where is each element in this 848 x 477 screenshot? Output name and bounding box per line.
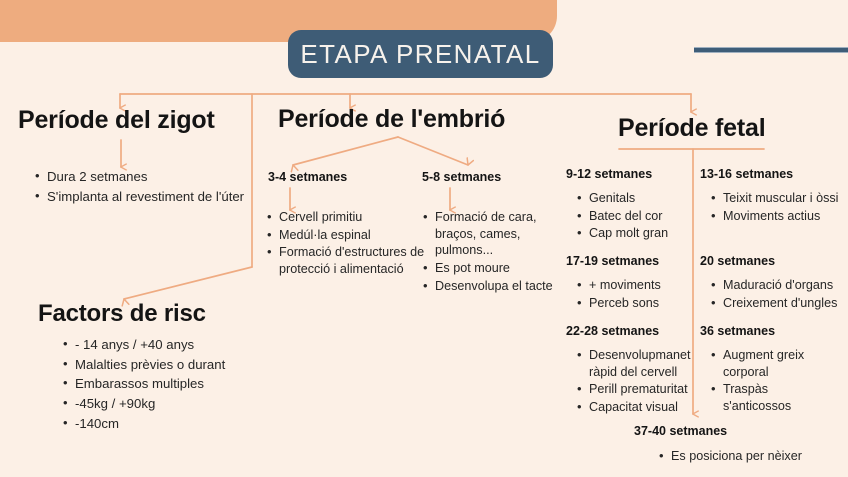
week-label-13-16: 13-16 setmanes bbox=[700, 167, 793, 181]
arrow-to-factors bbox=[124, 267, 252, 299]
week-label-37-40: 37-40 setmanes bbox=[634, 424, 727, 438]
list-item: Malalties prèvies o durant bbox=[75, 356, 305, 375]
list-item: Maduració d'organs bbox=[723, 277, 848, 294]
list-item: S'implanta al revestiment de l'úter bbox=[47, 188, 267, 207]
list-item: Perceb sons bbox=[589, 295, 707, 312]
list-item: Creixement d'ungles bbox=[723, 295, 848, 312]
list-item: Augment greix corporal bbox=[723, 347, 819, 380]
list-item: -140cm bbox=[75, 415, 305, 434]
list-item: Moviments actius bbox=[723, 208, 848, 225]
section-title-embrio: Període de l'embrió bbox=[278, 105, 505, 134]
blue-rule-decoration bbox=[694, 47, 848, 53]
list-item: Es pot moure bbox=[435, 260, 575, 277]
week-label-36: 36 setmanes bbox=[700, 324, 775, 338]
factors-bullet-list: - 14 anys / +40 anys Malalties prèvies o… bbox=[58, 336, 305, 435]
week-label-3-4: 3-4 setmanes bbox=[268, 170, 347, 184]
week-label-22-28: 22-28 setmanes bbox=[566, 324, 659, 338]
list-item: Desenvolupmanet ràpid del cervell bbox=[589, 347, 699, 380]
embrio-3-4-bullet-list: Cervell primitiu Medúl·la espinal Formac… bbox=[262, 209, 427, 279]
list-item: Desenvolupa el tacte bbox=[435, 278, 575, 295]
list-item: Batec del cor bbox=[589, 208, 707, 225]
page-title-badge: ETAPA PRENATAL bbox=[288, 30, 553, 78]
embrio-5-8-bullet-list: Formació de cara, braços, cames, pulmons… bbox=[418, 209, 575, 296]
list-item: - 14 anys / +40 anys bbox=[75, 336, 305, 355]
fetal-22-28-bullet-list: Desenvolupmanet ràpid del cervell Perill… bbox=[572, 347, 699, 417]
infographic-canvas: ETAPA PRENATAL bbox=[0, 0, 848, 477]
fetal-20-bullet-list: Maduració d'organs Creixement d'ungles bbox=[706, 277, 848, 312]
week-label-17-19: 17-19 setmanes bbox=[566, 254, 659, 268]
list-item: Dura 2 setmanes bbox=[47, 168, 267, 187]
page-title: ETAPA PRENATAL bbox=[300, 39, 540, 70]
fetal-36-bullet-list: Augment greix corporal Traspàs s'anticos… bbox=[706, 347, 819, 416]
arrow-embrio-3-4 bbox=[293, 137, 398, 165]
list-item: Traspàs s'anticossos bbox=[723, 381, 819, 414]
list-item: Formació d'estructures de protecció i al… bbox=[279, 244, 427, 277]
week-label-5-8: 5-8 setmanes bbox=[422, 170, 501, 184]
list-item: Capacitat visual bbox=[589, 399, 699, 416]
week-label-20: 20 setmanes bbox=[700, 254, 775, 268]
list-item: Cervell primitiu bbox=[279, 209, 427, 226]
list-item: Genitals bbox=[589, 190, 707, 207]
fetal-17-19-bullet-list: + moviments Perceb sons bbox=[572, 277, 707, 312]
list-item: + moviments bbox=[589, 277, 707, 294]
fetal-9-12-bullet-list: Genitals Batec del cor Cap molt gran bbox=[572, 190, 707, 243]
list-item: Formació de cara, braços, cames, pulmons… bbox=[435, 209, 575, 259]
list-item: Embarassos multiples bbox=[75, 375, 305, 394]
fetal-37-40-bullet-list: Es posiciona per nèixer bbox=[654, 448, 848, 466]
list-item: Perill prematuritat bbox=[589, 381, 699, 398]
list-item: -45kg / +90kg bbox=[75, 395, 305, 414]
zigot-bullet-list: Dura 2 setmanes S'implanta al revestimen… bbox=[30, 168, 267, 207]
list-item: Medúl·la espinal bbox=[279, 227, 427, 244]
section-title-fetal: Període fetal bbox=[618, 114, 765, 143]
list-item: Teixit muscular i òssi bbox=[723, 190, 848, 207]
week-label-9-12: 9-12 setmanes bbox=[566, 167, 652, 181]
list-item: Cap molt gran bbox=[589, 225, 707, 242]
list-item: Es posiciona per nèixer bbox=[671, 448, 848, 465]
section-title-factors: Factors de risc bbox=[38, 300, 206, 328]
section-title-zigot: Període del zigot bbox=[18, 106, 215, 135]
fetal-13-16-bullet-list: Teixit muscular i òssi Moviments actius bbox=[706, 190, 848, 225]
arrow-embrio-5-8 bbox=[398, 137, 468, 165]
